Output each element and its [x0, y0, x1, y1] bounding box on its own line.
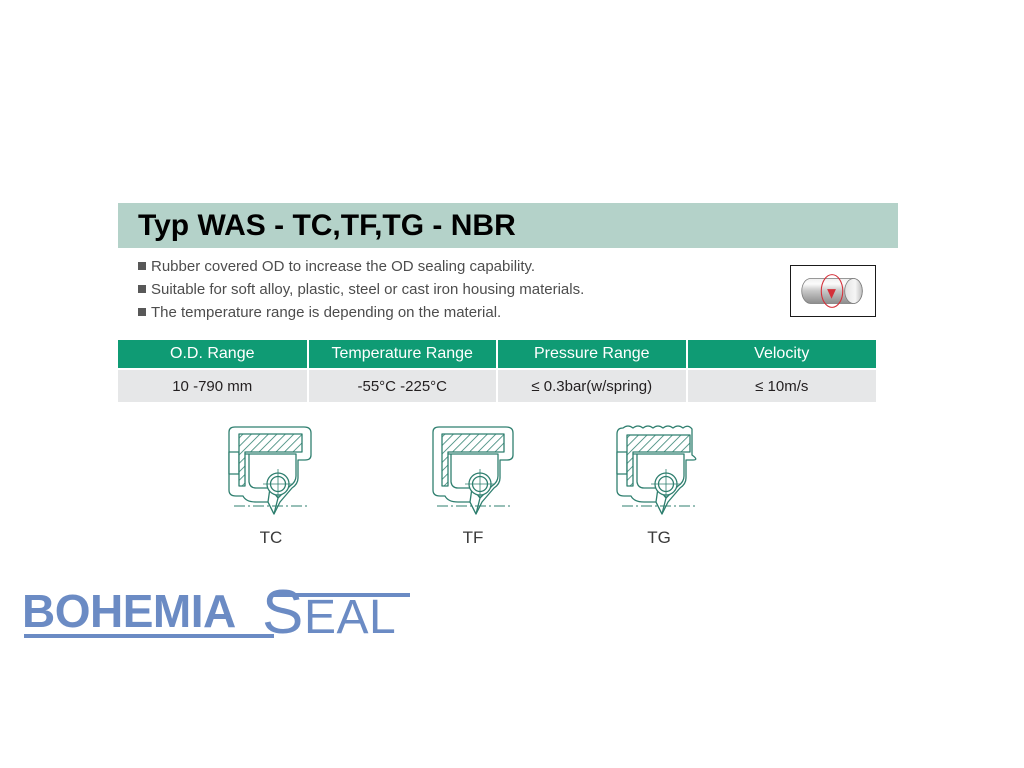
feature-text: Rubber covered OD to increase the OD sea… [151, 257, 535, 276]
seal-label-tf: TF [414, 528, 532, 548]
column-header-pressure-range: Pressure Range [497, 340, 687, 369]
seal-label-tc: TC [212, 528, 330, 548]
square-bullet-icon [138, 308, 146, 316]
cell-od-range: 10 -790 mm [118, 369, 308, 402]
column-header-velocity: Velocity [687, 340, 877, 369]
square-bullet-icon [138, 285, 146, 293]
column-header-od-range: O.D. Range [118, 340, 308, 369]
seal-diagram-tg [600, 422, 718, 527]
company-logo: BOHEMIA S EAL [18, 583, 418, 645]
list-item: Suitable for soft alloy, plastic, steel … [138, 280, 758, 301]
feature-list: Rubber covered OD to increase the OD sea… [138, 257, 758, 326]
title-band: Typ WAS - TC,TF,TG - NBR [118, 203, 898, 248]
cell-velocity: ≤ 10m/s [687, 369, 877, 402]
seal-diagram-tc [212, 422, 330, 527]
page-title: Typ WAS - TC,TF,TG - NBR [138, 209, 516, 243]
cell-pressure-range: ≤ 0.3bar(w/spring) [497, 369, 687, 402]
table-header-row: O.D. Range Temperature Range Pressure Ra… [118, 340, 876, 369]
list-item: Rubber covered OD to increase the OD sea… [138, 257, 758, 278]
logo-word-eal: EAL [304, 591, 396, 644]
cell-temperature-range: -55°C -225°C [308, 369, 498, 402]
seal-diagram-tf [414, 422, 532, 527]
feature-text: Suitable for soft alloy, plastic, steel … [151, 280, 584, 299]
feature-text: The temperature range is depending on th… [151, 303, 501, 322]
column-header-temperature-range: Temperature Range [308, 340, 498, 369]
specification-table: O.D. Range Temperature Range Pressure Ra… [118, 340, 876, 402]
logo-word-bohemia: BOHEMIA [22, 585, 236, 637]
table-row: 10 -790 mm -55°C -225°C ≤ 0.3bar(w/sprin… [118, 369, 876, 402]
square-bullet-icon [138, 262, 146, 270]
list-item: The temperature range is depending on th… [138, 303, 758, 324]
logo-letter-s: S [262, 583, 303, 645]
rotating-shaft-icon [790, 265, 876, 317]
seal-label-tg: TG [600, 528, 718, 548]
